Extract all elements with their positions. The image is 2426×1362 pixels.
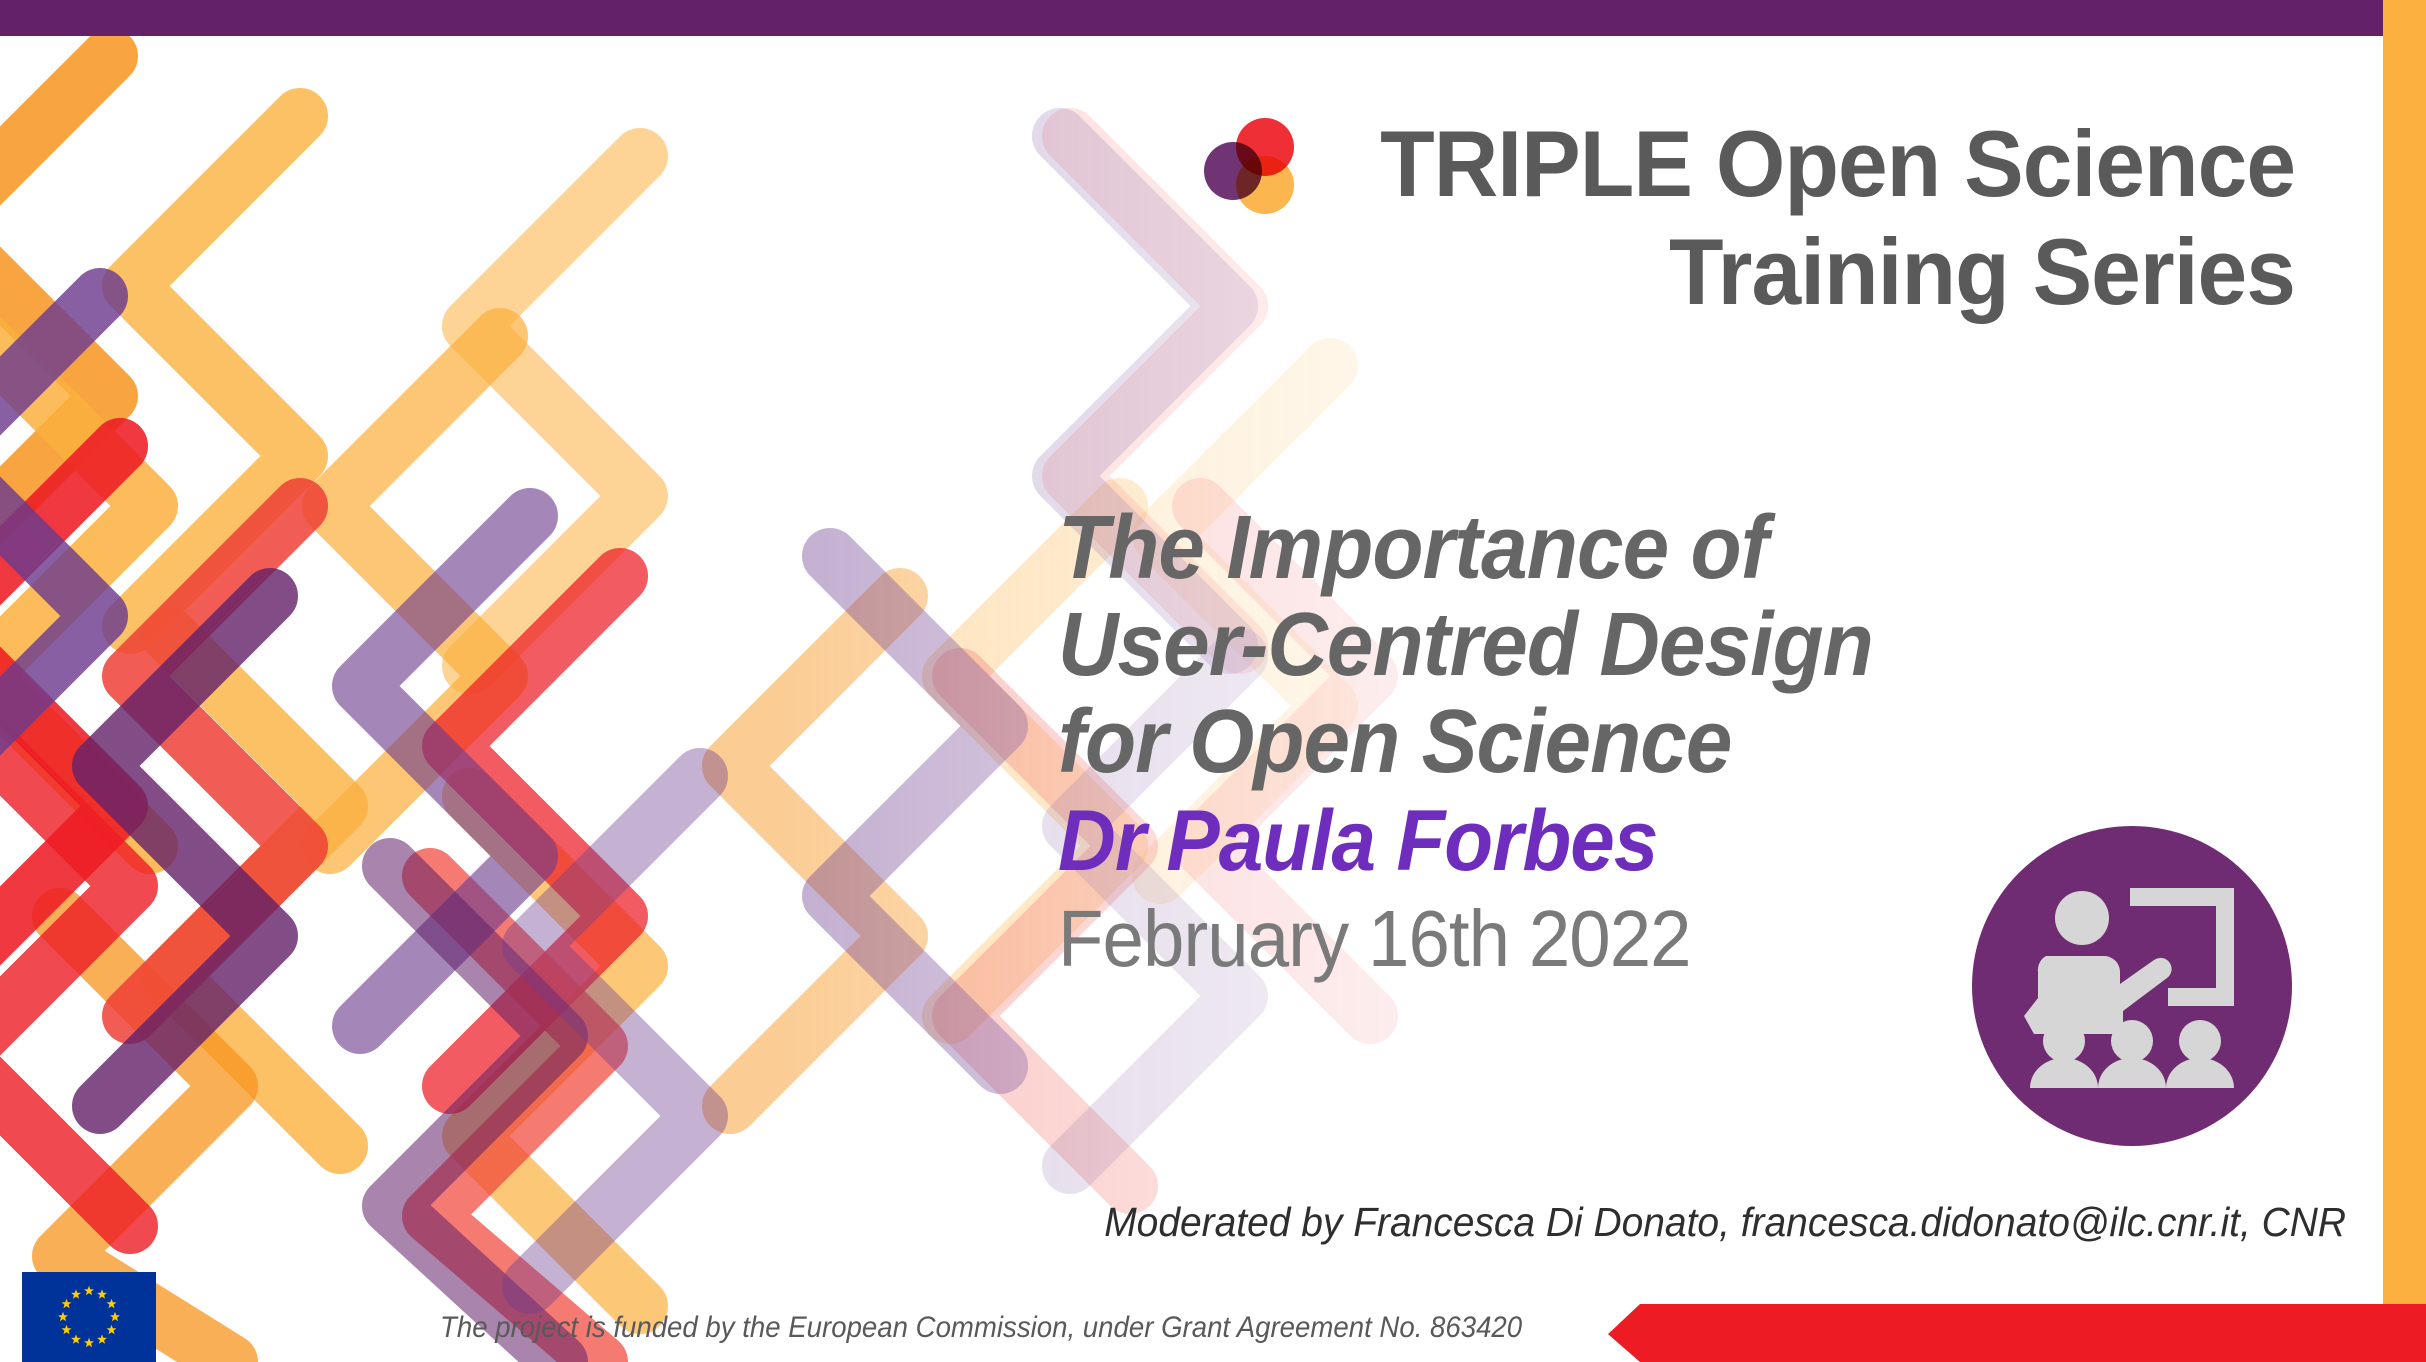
talk-title-line-1: The Importance of xyxy=(1058,500,2211,597)
european-union-flag xyxy=(22,1272,156,1362)
talk-title-line-2: User-Centred Design xyxy=(1058,597,2211,694)
logo-circle-orange xyxy=(1236,156,1294,214)
eu-flag-stars-icon xyxy=(22,1272,156,1362)
training-badge xyxy=(1972,826,2292,1146)
talk-title-line-3: for Open Science xyxy=(1058,694,2211,791)
presentation-slide: TRIPLE Open Science Training Series The … xyxy=(0,0,2426,1362)
moderator-line: Moderated by Francesca Di Donato, france… xyxy=(972,1198,2346,1246)
top-purple-bar xyxy=(0,0,2383,36)
logo-title-line-1: TRIPLE Open Science xyxy=(1380,112,2295,216)
logo-row: TRIPLE Open Science xyxy=(880,112,2295,216)
logo-title-line-2: Training Series xyxy=(951,220,2295,324)
right-orange-bar xyxy=(2383,0,2426,1362)
training-presentation-icon xyxy=(1972,826,2292,1146)
bottom-red-banner xyxy=(1608,1304,2426,1362)
funding-line: The project is funded by the European Co… xyxy=(440,1310,1522,1346)
triple-logo-header: TRIPLE Open Science Training Series xyxy=(880,112,2295,324)
triple-logo-three-circles-icon xyxy=(1202,116,1298,212)
